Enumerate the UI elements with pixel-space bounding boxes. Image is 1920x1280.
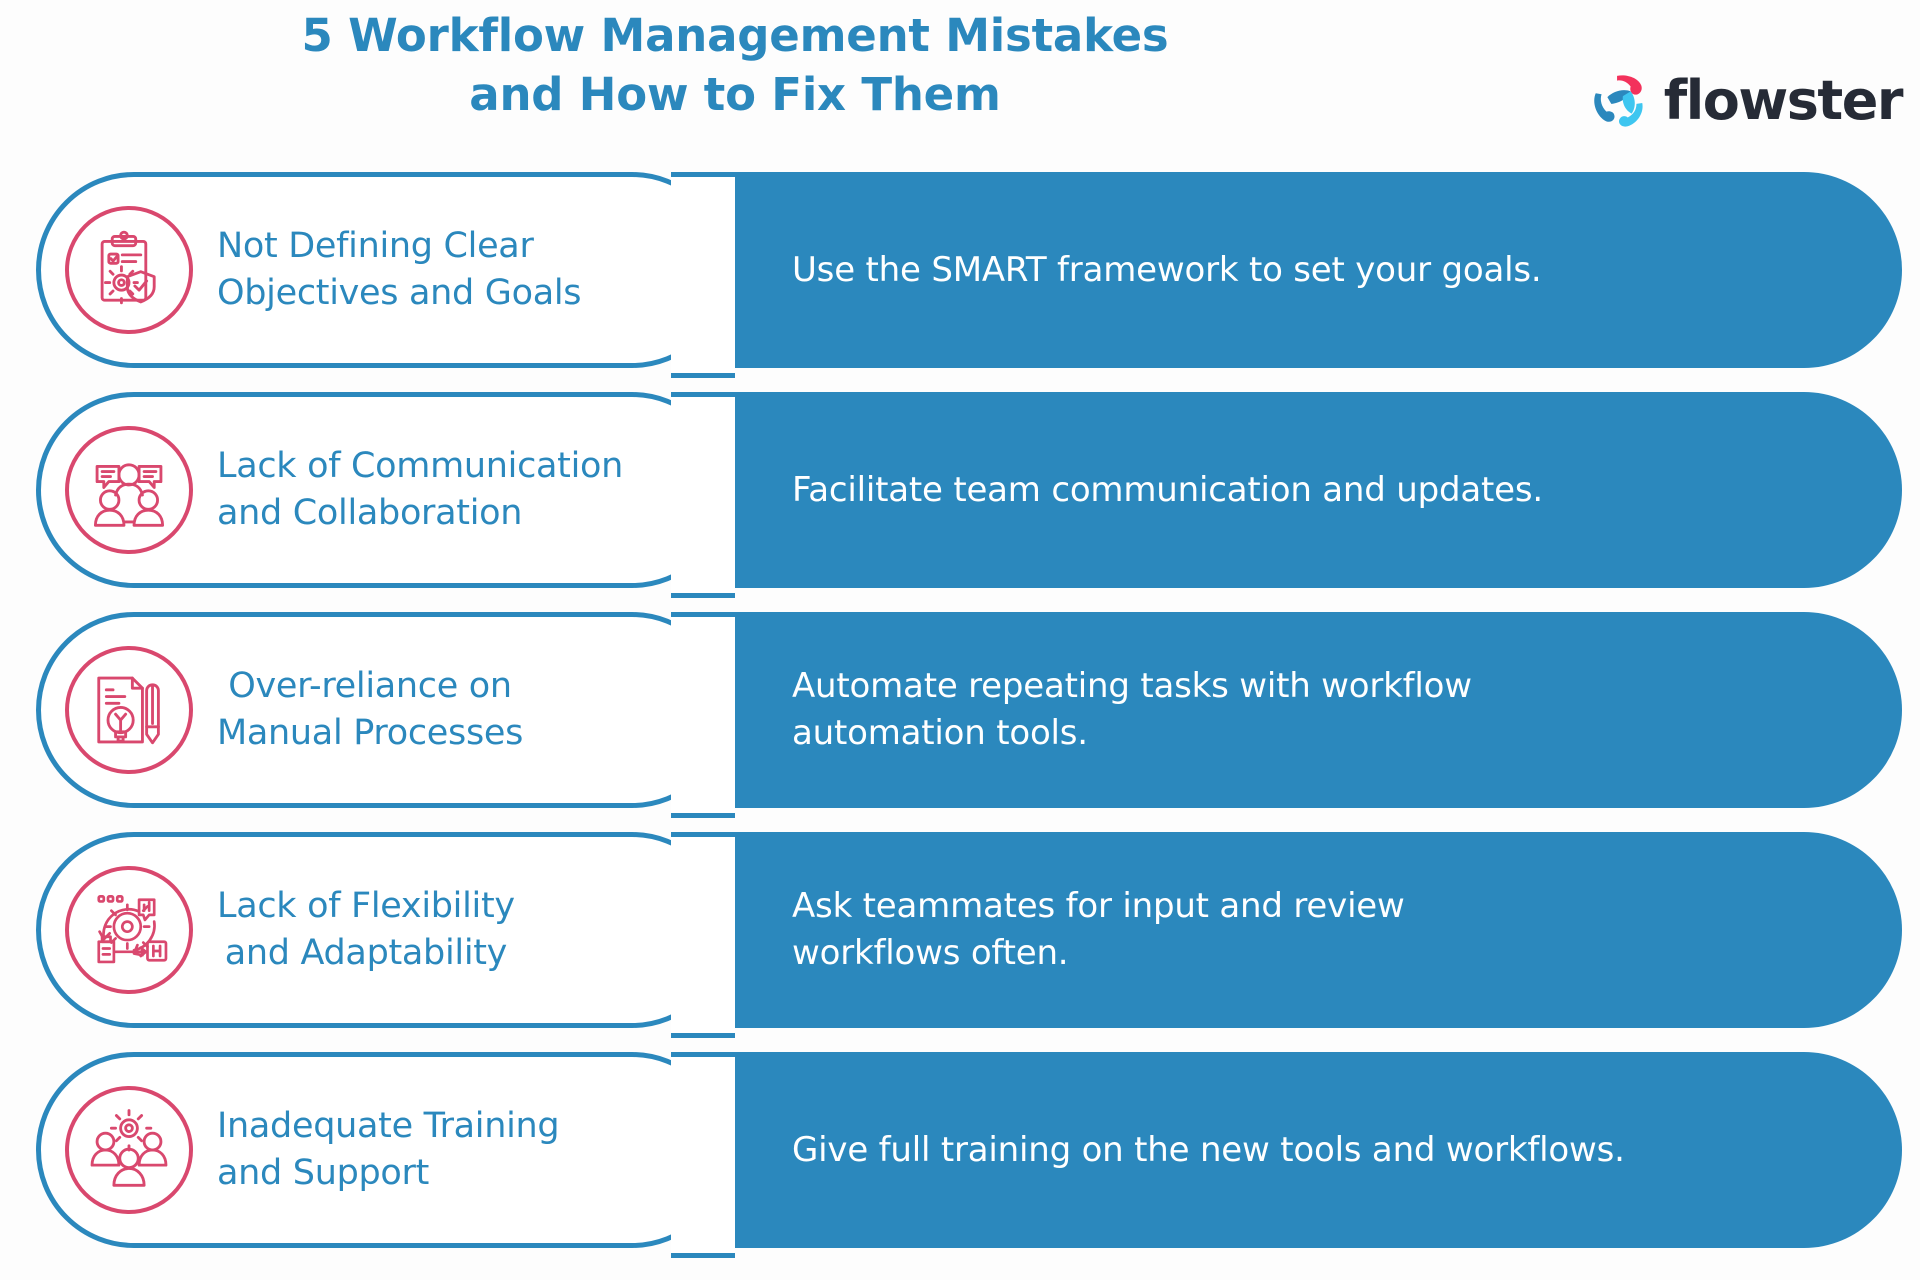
brand-wordmark: flowster	[1664, 74, 1902, 128]
mistake-label: Not Defining Clear Objectives and Goals	[217, 223, 581, 316]
list-item: Automate repeating tasks with workflow a…	[0, 612, 1920, 808]
fix-text: Ask teammates for input and review workf…	[792, 883, 1405, 977]
people-gear-training-glyph	[87, 1108, 171, 1192]
mistake-capsule: Not Defining Clear Objectives and Goals	[36, 172, 730, 368]
header: 5 Workflow Management Mistakes and How t…	[0, 0, 1920, 172]
fix-line-2: automation tools.	[792, 710, 1472, 757]
mistake-label: Lack of Communication and Collaboration	[217, 443, 623, 536]
mistake-label: Lack of Flexibility and Adaptability	[217, 883, 515, 976]
infographic-page: 5 Workflow Management Mistakes and How t…	[0, 0, 1920, 1280]
people-gear-training-icon	[65, 1086, 193, 1214]
fix-panel: Automate repeating tasks with workflow a…	[716, 612, 1902, 808]
fix-text: Facilitate team communication and update…	[792, 467, 1543, 514]
fix-line-1: Give full training on the new tools and …	[792, 1127, 1625, 1174]
mistake-line-2: and Collaboration	[217, 490, 623, 537]
fix-panel: Give full training on the new tools and …	[716, 1052, 1902, 1248]
mistake-line-1: Over-reliance on	[217, 663, 523, 710]
brand-logo: flowster	[1588, 70, 1902, 132]
mistake-line-2: and Support	[217, 1150, 559, 1197]
fix-text: Use the SMART framework to set your goal…	[792, 247, 1542, 294]
fix-panel: Ask teammates for input and review workf…	[716, 832, 1902, 1028]
clipboard-gear-shield-check-glyph	[87, 228, 171, 312]
fix-line-1: Automate repeating tasks with workflow	[792, 663, 1472, 710]
fix-line-1: Ask teammates for input and review	[792, 883, 1405, 930]
mistake-line-2: and Adaptability	[217, 930, 515, 977]
mistake-capsule: Over-reliance on Manual Processes	[36, 612, 730, 808]
mistake-label: Inadequate Training and Support	[217, 1103, 559, 1196]
list-item: Facilitate team communication and update…	[0, 392, 1920, 588]
mistakes-list: Use the SMART framework to set your goal…	[0, 172, 1920, 1248]
title-line-1: 5 Workflow Management Mistakes	[302, 9, 1169, 62]
fix-panel: Facilitate team communication and update…	[716, 392, 1902, 588]
fix-line-1: Use the SMART framework to set your goal…	[792, 247, 1542, 294]
people-speech-bubbles-icon	[65, 426, 193, 554]
gear-cycle-workflow-glyph	[87, 888, 171, 972]
gear-cycle-workflow-icon	[65, 866, 193, 994]
list-item: Give full training on the new tools and …	[0, 1052, 1920, 1248]
flowster-swoosh-logo-icon	[1588, 70, 1650, 132]
mistake-capsule: Inadequate Training and Support	[36, 1052, 730, 1248]
mistake-line-1: Lack of Communication	[217, 443, 623, 490]
document-lightbulb-pen-glyph	[87, 668, 171, 752]
mistake-line-2: Objectives and Goals	[217, 270, 581, 317]
page-title: 5 Workflow Management Mistakes and How t…	[0, 6, 1470, 125]
clipboard-gear-shield-check-icon	[65, 206, 193, 334]
fix-text: Give full training on the new tools and …	[792, 1127, 1625, 1174]
fix-text: Automate repeating tasks with workflow a…	[792, 663, 1472, 757]
mistake-line-2: Manual Processes	[217, 710, 523, 757]
title-line-2: and How to Fix Them	[0, 65, 1470, 124]
fix-line-1: Facilitate team communication and update…	[792, 467, 1543, 514]
list-item: Ask teammates for input and review workf…	[0, 832, 1920, 1028]
document-lightbulb-pen-icon	[65, 646, 193, 774]
mistake-line-1: Not Defining Clear	[217, 223, 581, 270]
mistake-line-1: Lack of Flexibility	[217, 883, 515, 930]
mistake-line-1: Inadequate Training	[217, 1103, 559, 1150]
mistake-capsule: Lack of Flexibility and Adaptability	[36, 832, 730, 1028]
mistake-capsule: Lack of Communication and Collaboration	[36, 392, 730, 588]
fix-panel: Use the SMART framework to set your goal…	[716, 172, 1902, 368]
fix-line-2: workflows often.	[792, 930, 1405, 977]
list-item: Use the SMART framework to set your goal…	[0, 172, 1920, 368]
mistake-label: Over-reliance on Manual Processes	[217, 663, 523, 756]
people-speech-bubbles-glyph	[87, 448, 171, 532]
